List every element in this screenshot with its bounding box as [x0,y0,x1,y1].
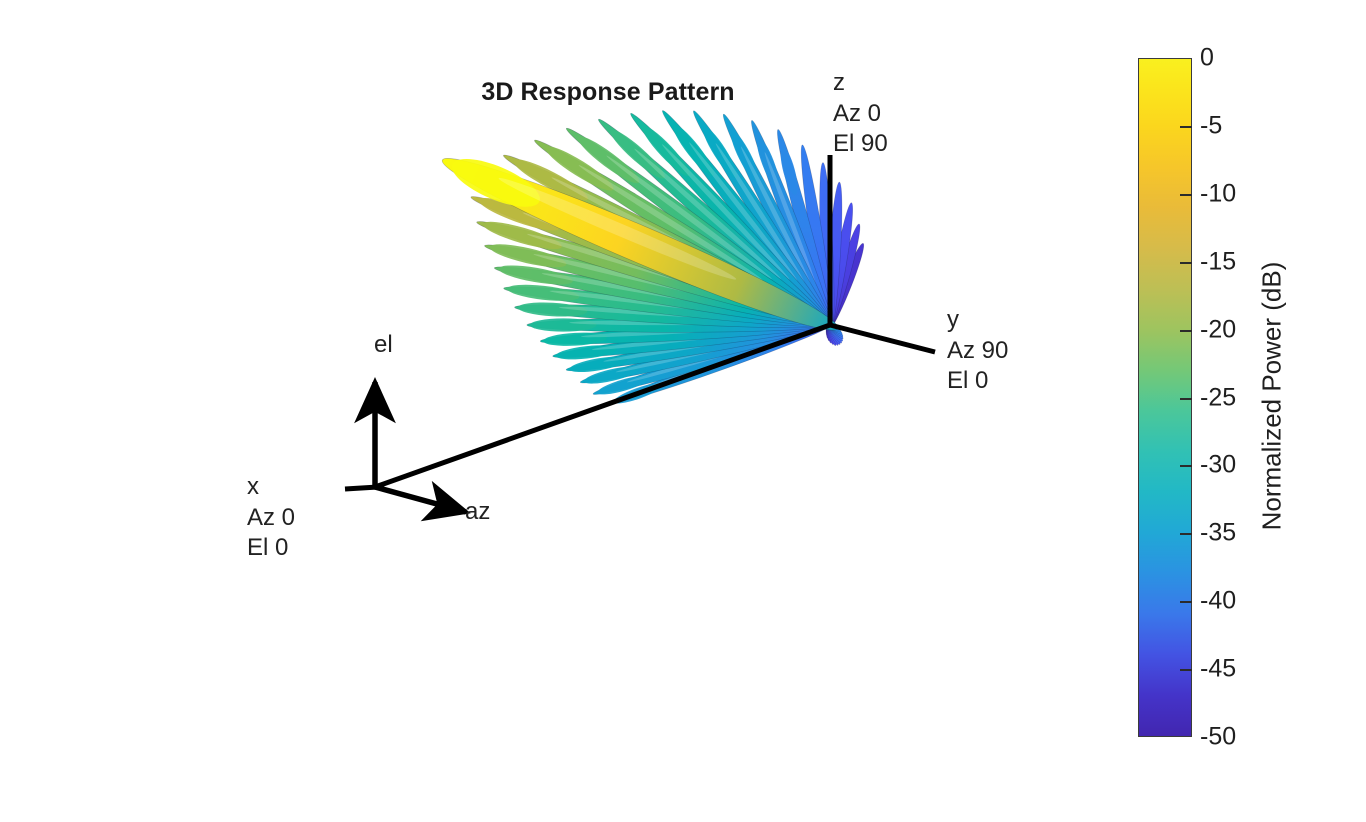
axis-label-az: az [465,497,490,528]
colorbar-tick-label: -20 [1200,315,1236,344]
colorbar-tick-label: -30 [1200,451,1236,480]
colorbar-tick-label: -15 [1200,247,1236,276]
colorbar-tick [1180,601,1192,603]
y-axis-line [830,325,935,352]
colorbar-tick-label: -35 [1200,519,1236,548]
axis-label-y-name: y [947,305,1008,336]
colorbar-tick-label: -50 [1200,723,1236,752]
axis-label-x: x Az 0 El 0 [247,472,295,564]
colorbar-tick-label: -40 [1200,587,1236,616]
colorbar-tick [1180,669,1192,671]
x-axis-stub [345,487,378,489]
colorbar-title-text: Normalized Power (dB) [1257,261,1288,530]
colorbar-tick [1180,126,1192,128]
colorbar-tick [1180,262,1192,264]
radiation-lobe-tip [543,331,607,347]
az-axis-arrow [375,487,466,512]
axis-label-x-az: Az 0 [247,503,295,534]
colorbar-tick-label: -25 [1200,383,1236,412]
axis-label-y-el: El 0 [947,366,1008,397]
colorbar-tick-label: -5 [1200,111,1222,140]
axis-label-y-az: Az 90 [947,336,1008,367]
axis-label-z-el: El 90 [833,129,888,160]
axis-label-z-name: z [833,68,888,99]
colorbar-tick-label: 0 [1200,44,1214,73]
axis-label-x-name: x [247,472,295,503]
colorbar-tick [1180,330,1192,332]
axis-label-x-el: El 0 [247,533,295,564]
radiation-lobes [435,106,868,409]
figure-canvas: 3D Response Pattern [0,0,1366,822]
radiation-lobe-tip [530,318,597,331]
axis-label-z-az: Az 0 [833,99,888,130]
colorbar-tick [1180,398,1192,400]
colorbar-tick-label: -45 [1200,655,1236,684]
colorbar-title: Normalized Power (dB) [1252,56,1292,735]
axis-label-z: z Az 0 El 90 [833,68,888,160]
colorbar-tick [1180,465,1192,467]
colorbar-tick [1180,194,1192,196]
axis-label-el: el [374,330,393,361]
response-pattern-plot [0,0,1120,822]
colorbar-tick [1180,533,1192,535]
axis-label-y: y Az 90 El 0 [947,305,1008,397]
colorbar-tick-label: -10 [1200,179,1236,208]
colorbar: 0-5-10-15-20-25-30-35-40-45-50 Normalize… [1136,56,1366,746]
